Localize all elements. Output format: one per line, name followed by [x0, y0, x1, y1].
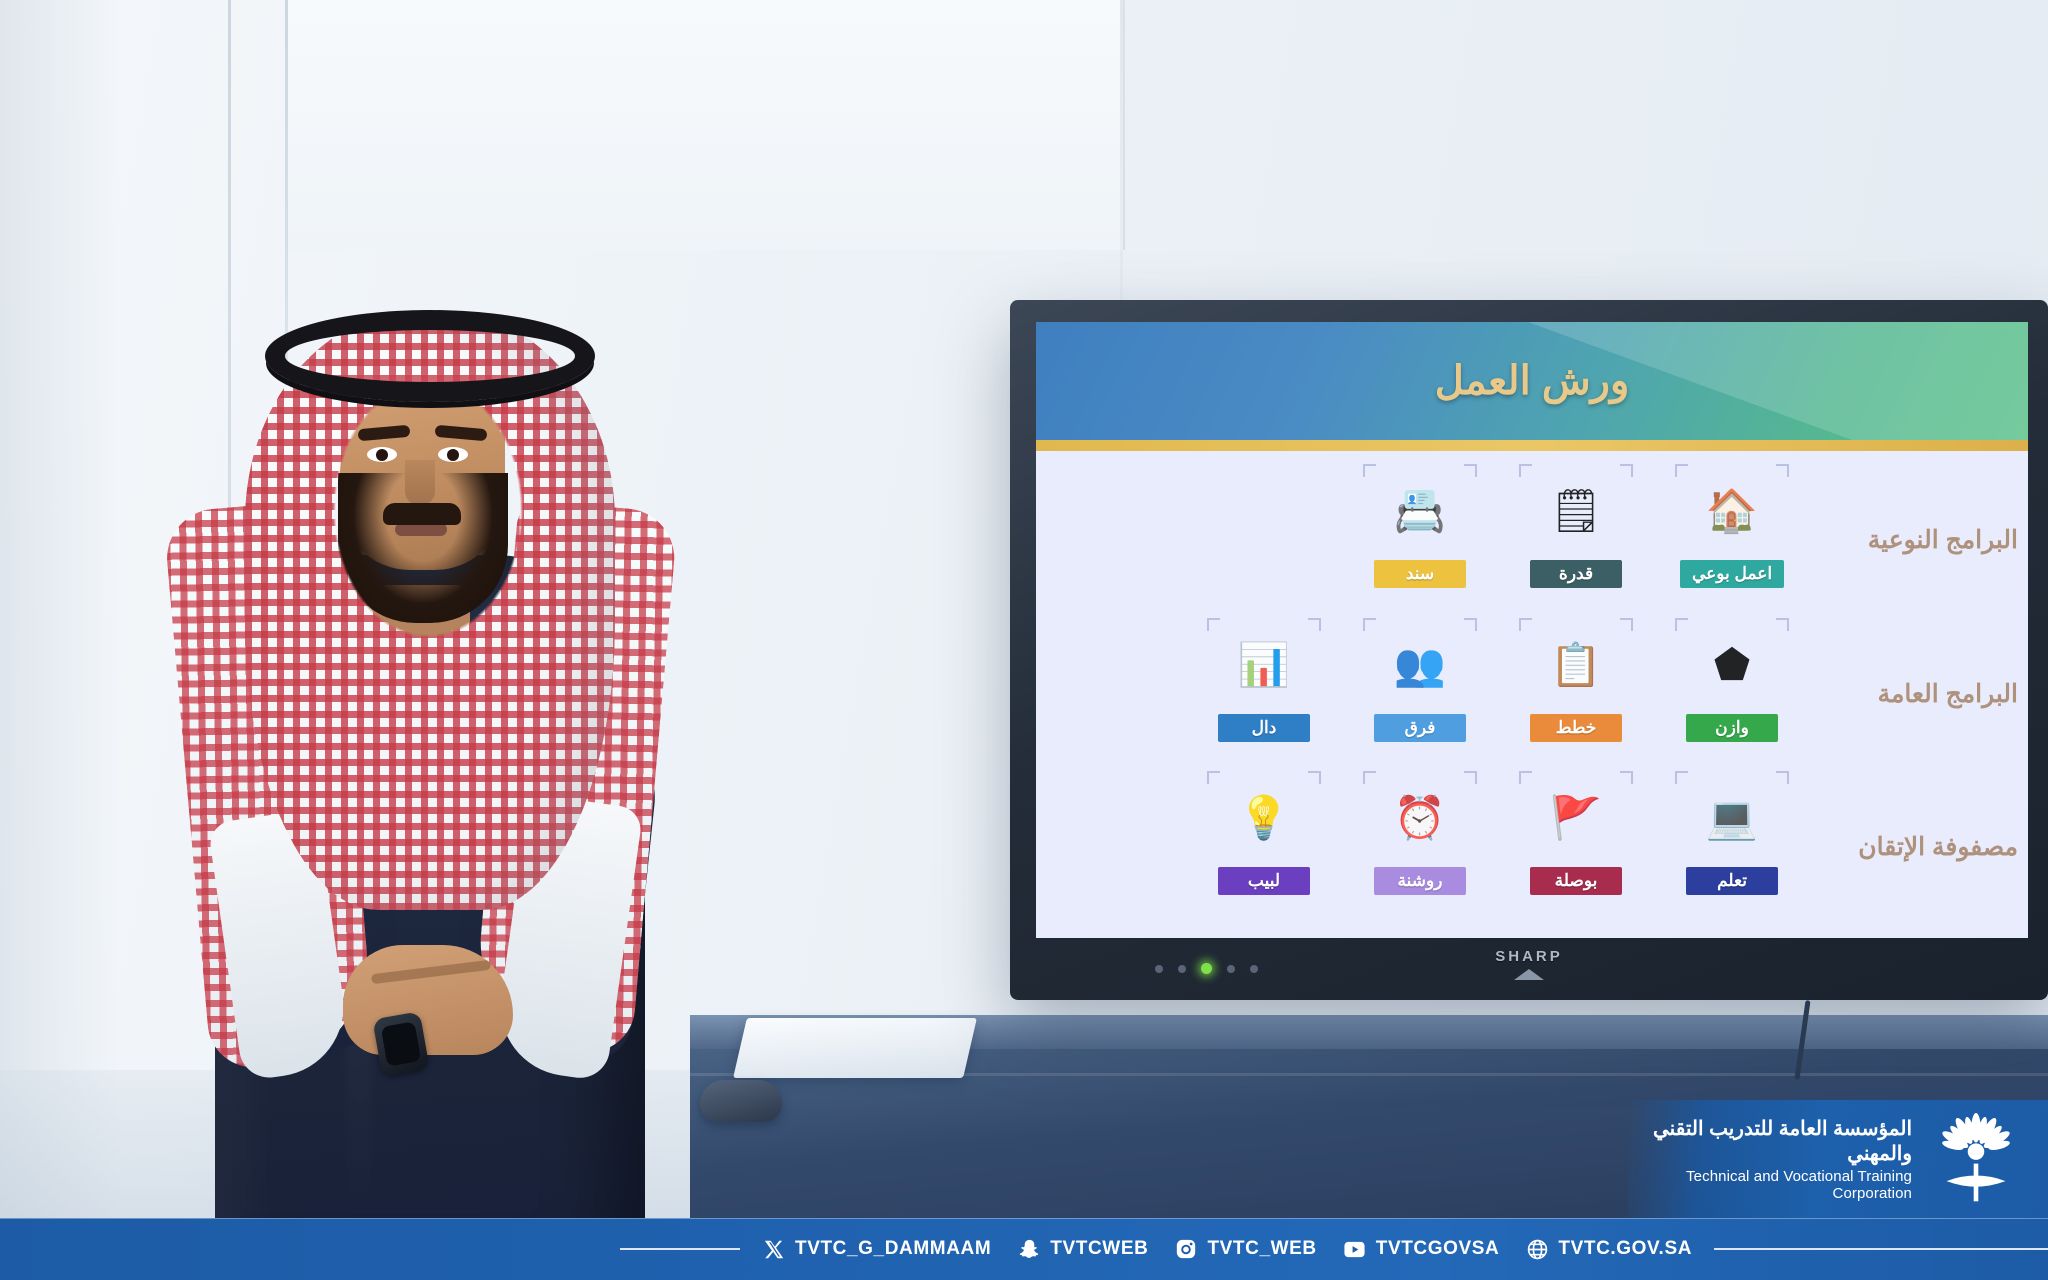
tvtc-logo-text: المؤسسة العامة للتدريب التقني والمهني Te…: [1628, 1116, 1912, 1202]
tile-glyph: ⬟: [1714, 644, 1751, 686]
snapchat-icon: [1017, 1237, 1041, 1261]
tile-glyph: 🚩: [1550, 797, 1602, 839]
tile-glyph: 💻: [1706, 797, 1758, 839]
lightbulb-person-icon: 💡: [1212, 774, 1316, 862]
display-brand-area: SHARP: [1010, 938, 2048, 990]
program-tile[interactable]: 📇 سند: [1354, 467, 1486, 588]
tile-glyph: 🏠: [1706, 490, 1758, 532]
social-handle: TVTCGOVSA: [1376, 1238, 1500, 1260]
program-tile[interactable]: 👥 فرق: [1354, 621, 1486, 742]
wall-seam: [1120, 0, 1123, 330]
sharp-logo: SHARP: [1495, 948, 1563, 965]
category-label: البرامج العامة: [1878, 679, 2018, 709]
e-learning-icon: 💻: [1680, 774, 1784, 862]
program-tile[interactable]: 💡 لبيب: [1198, 774, 1330, 895]
presenter-person: [95, 255, 735, 1280]
tile-glyph: ⏰: [1394, 797, 1446, 839]
tile-label: دال: [1218, 714, 1310, 742]
tile-glyph: 📋: [1550, 644, 1602, 686]
profile-assessment-icon: 🗒: [1524, 467, 1628, 555]
goal-flag-icon: 🚩: [1524, 774, 1628, 862]
presentation-slide: ورش العمل البرامج النوعية 📇: [1036, 322, 2028, 938]
chevron-up-icon: [1514, 969, 1544, 980]
tile-glyph: 👥: [1394, 644, 1446, 686]
social-link-snapchat[interactable]: TVTCWEB: [1017, 1237, 1148, 1261]
youtube-icon: [1343, 1237, 1367, 1261]
slide-title: ورش العمل: [1435, 358, 1630, 404]
teamwork-network-icon: 👥: [1368, 621, 1472, 709]
tvtc-name-english: Technical and Vocational Training Corpor…: [1628, 1168, 1912, 1202]
x-twitter-icon: [762, 1237, 786, 1261]
social-handle: TVTC_G_DAMMAAM: [795, 1238, 991, 1260]
social-links: TVTC_G_DAMMAAM TVTCWEB TVTC_WEB TVTCGOVS…: [740, 1237, 1714, 1261]
tile-label: فرق: [1374, 714, 1466, 742]
planning-board-icon: 📋: [1524, 621, 1628, 709]
photo-scene: ورش العمل البرامج النوعية 📇: [0, 0, 2048, 1280]
slide-body: البرامج النوعية 📇 سند: [1036, 451, 2028, 938]
social-handle: TVTC_WEB: [1207, 1238, 1316, 1260]
tile-label: تعلم: [1686, 867, 1778, 895]
tile-label: لبيب: [1218, 867, 1310, 895]
divider-line-left: [620, 1248, 740, 1250]
social-handle: TVTC.GOV.SA: [1558, 1238, 1692, 1260]
tile-label: سند: [1374, 560, 1466, 588]
tvtc-logo-strip: المؤسسة العامة للتدريب التقني والمهني Te…: [1628, 1100, 2048, 1218]
social-handle: TVTCWEB: [1050, 1238, 1148, 1260]
tile-label: خطط: [1530, 714, 1622, 742]
data-analytics-icon: 📊: [1212, 621, 1316, 709]
balance-pentagon-icon: ⬟: [1680, 621, 1784, 709]
program-tile[interactable]: 🗒 قدرة: [1510, 467, 1642, 588]
divider-line-right: [1714, 1248, 2048, 1250]
program-tile[interactable]: 🚩 بوصلة: [1510, 774, 1642, 895]
wall-panel: [285, 0, 1125, 250]
slide-header: ورش العمل: [1036, 322, 2028, 440]
social-link-website[interactable]: TVTC.GOV.SA: [1525, 1237, 1692, 1261]
tile-glyph: 📊: [1238, 644, 1290, 686]
category-label: مصفوفة الإتقان: [1858, 832, 2018, 862]
tvtc-starburst-emblem: [1930, 1111, 2022, 1207]
program-tile[interactable]: 📋 خطط: [1510, 621, 1642, 742]
tile-label: اعمل بوعي: [1680, 560, 1784, 588]
wristwatch: [372, 1011, 429, 1076]
tile-glyph: 🗒: [1549, 490, 1602, 532]
program-row: البرامج العامة 📊 دال: [1036, 621, 2028, 775]
program-row: البرامج النوعية 📇 سند: [1036, 467, 2028, 621]
program-tile[interactable]: ⬟ وازن: [1666, 621, 1798, 742]
program-tile[interactable]: 🏠 اعمل بوعي: [1666, 467, 1798, 588]
category-label: البرامج النوعية: [1868, 525, 2018, 555]
display-screen: ورش العمل البرامج النوعية 📇: [1036, 322, 2028, 938]
time-management-icon: ⏰: [1368, 774, 1472, 862]
social-link-x[interactable]: TVTC_G_DAMMAAM: [762, 1237, 991, 1261]
globe-website-icon: [1525, 1237, 1549, 1261]
tile-label: بوصلة: [1530, 867, 1622, 895]
tvtc-name-arabic: المؤسسة العامة للتدريب التقني والمهني: [1628, 1116, 1912, 1166]
program-tile[interactable]: 💻 تعلم: [1666, 774, 1798, 895]
tile-glyph: 💡: [1238, 797, 1290, 839]
sharp-display: ورش العمل البرامج النوعية 📇: [1010, 300, 2048, 1000]
instagram-icon: [1174, 1237, 1198, 1261]
tile-label: روشنة: [1374, 867, 1466, 895]
social-link-instagram[interactable]: TVTC_WEB: [1174, 1237, 1316, 1261]
igal-headband: [265, 310, 595, 402]
safe-workplace-icon: 🏠: [1680, 467, 1784, 555]
tile-label: قدرة: [1530, 560, 1622, 588]
program-tile[interactable]: 📊 دال: [1198, 621, 1330, 742]
id-card-icon: 📇: [1368, 467, 1472, 555]
tile-label: وازن: [1686, 714, 1778, 742]
slide-gold-rule: [1036, 440, 2028, 451]
program-tile[interactable]: ⏰ روشنة: [1354, 774, 1486, 895]
tile-glyph: 📇: [1394, 490, 1446, 532]
paper-stack: [733, 1018, 977, 1078]
program-row: مصفوفة الإتقان 💡 لبيب: [1036, 774, 2028, 928]
social-media-band: TVTC_G_DAMMAAM TVTCWEB TVTC_WEB TVTCGOVS…: [0, 1218, 2048, 1280]
social-link-youtube[interactable]: TVTCGOVSA: [1343, 1237, 1500, 1261]
